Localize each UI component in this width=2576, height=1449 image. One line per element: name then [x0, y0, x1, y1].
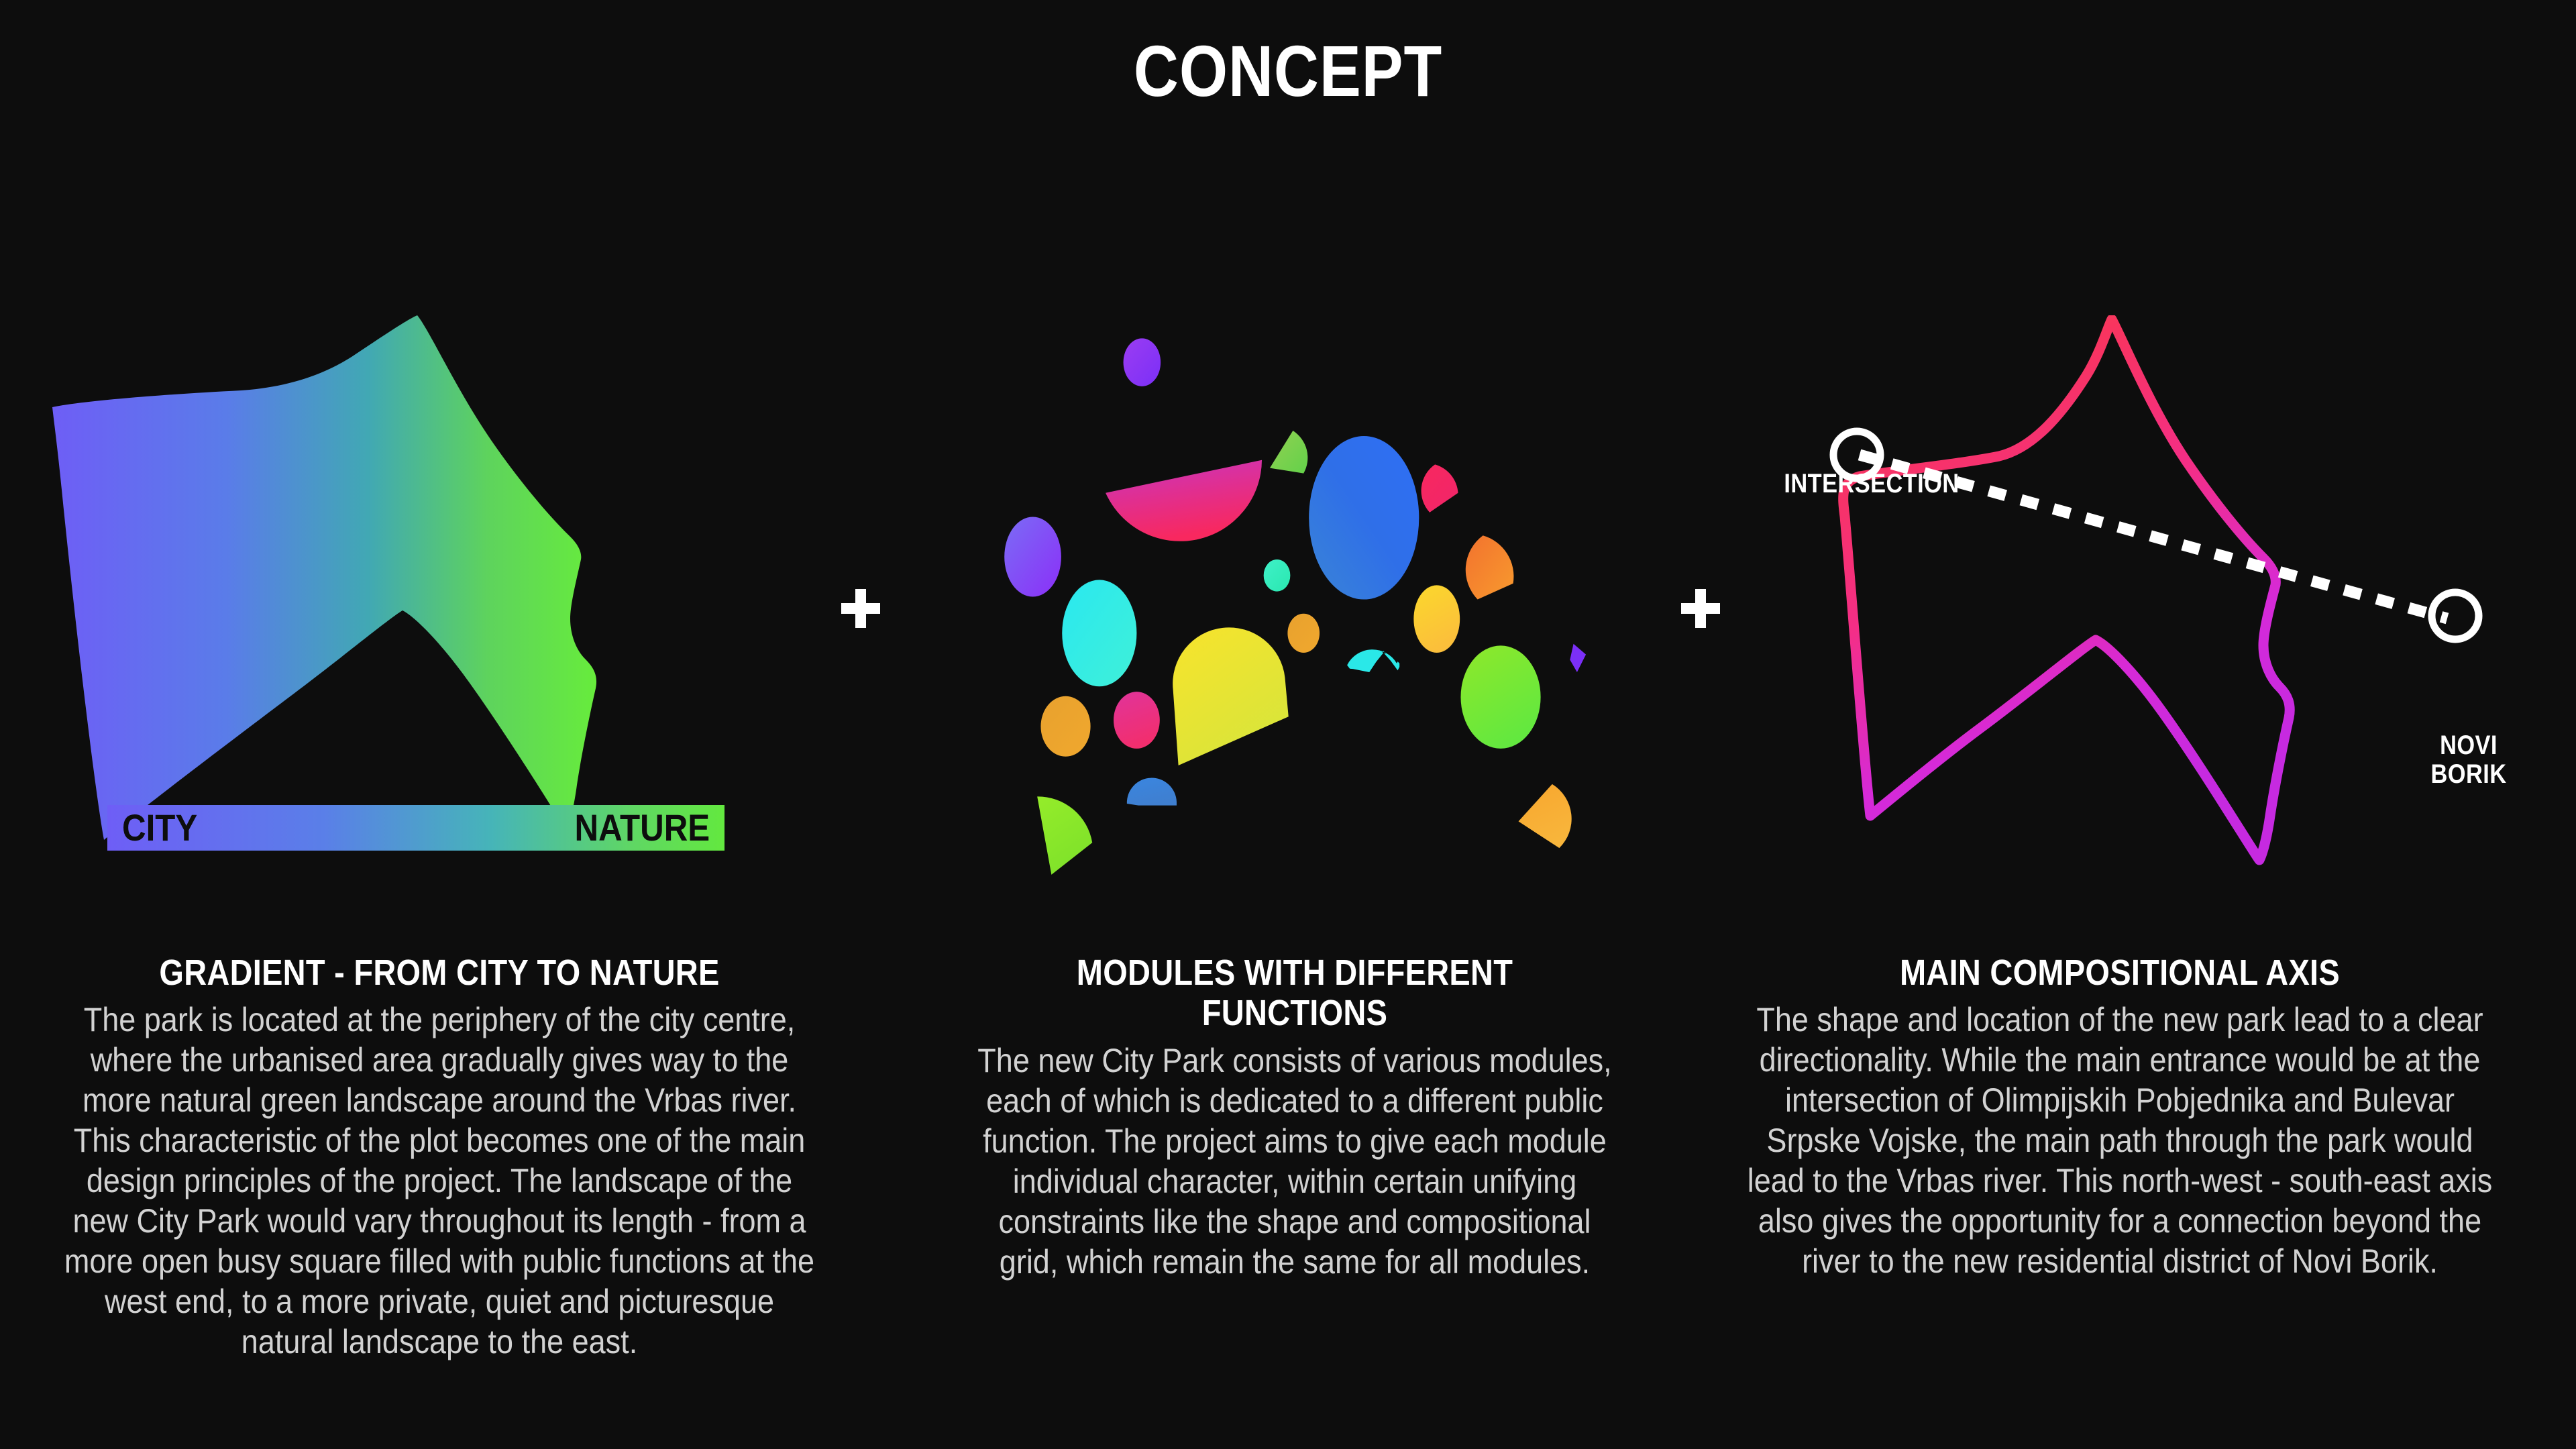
city-nature-gradient-legend: CITY NATURE — [107, 805, 724, 851]
module-magenta-half — [1106, 460, 1262, 541]
panel-axis-graphic — [1758, 315, 2536, 919]
module-cyan-crescent — [1347, 649, 1399, 672]
caption-body-modules: The new City Park consists of various mo… — [975, 1040, 1615, 1282]
caption-title-modules: MODULES WITH DIFFERENT FUNCTIONS — [985, 953, 1604, 1034]
label-novi-borik-line1: NOVI — [2411, 731, 2526, 760]
caption-column-axis: MAIN COMPOSITIONAL AXIS The shape and lo… — [1704, 953, 2536, 1281]
module-orange-quarter — [1466, 535, 1514, 599]
caption-title-gradient: GRADIENT - FROM CITY TO NATURE — [74, 953, 804, 993]
park-outline-stroke — [1843, 319, 2290, 860]
module-purple-sliver — [1570, 644, 1586, 672]
module-yellow-right — [1413, 585, 1460, 653]
plus-separator-1 — [837, 585, 884, 632]
page-title: CONCEPT — [180, 35, 2396, 107]
module-violet-top — [1124, 338, 1161, 386]
module-magenta-small — [1114, 692, 1160, 749]
module-blue-large — [1309, 436, 1419, 600]
panel-modules-graphic — [939, 315, 1650, 919]
label-novi-borik-line2: BORIK — [2411, 760, 2526, 789]
caption-body-gradient: The park is located at the periphery of … — [62, 1000, 817, 1362]
label-intersection: INTERSECTION — [1750, 470, 1992, 498]
plus-separator-2 — [1677, 585, 1724, 632]
legend-label-nature: NATURE — [574, 809, 710, 847]
module-violet-left — [1004, 517, 1061, 596]
axis-diagram — [1758, 315, 2536, 919]
module-cyan-large — [1062, 580, 1136, 686]
concept-board: CONCEPT — [0, 0, 2576, 1449]
module-green-wedge — [1270, 431, 1307, 474]
module-steelblue-half — [1127, 778, 1177, 806]
module-yellow-dome — [1173, 627, 1289, 765]
label-novi-borik: NOVI BORIK — [2411, 731, 2526, 789]
legend-label-city: CITY — [122, 809, 197, 847]
module-teal-small — [1264, 559, 1291, 592]
module-amber-centre — [1287, 614, 1320, 653]
module-orange-lowerleft — [1040, 696, 1090, 757]
novi-borik-marker-icon — [2432, 592, 2479, 639]
module-lime-quarter — [1037, 796, 1092, 874]
caption-column-modules: MODULES WITH DIFFERENT FUNCTIONS The new… — [939, 953, 1650, 1282]
module-orange-lowerright — [1519, 784, 1572, 848]
module-lime-large — [1461, 645, 1541, 749]
park-shape-path — [52, 315, 596, 840]
caption-title-axis: MAIN COMPOSITIONAL AXIS — [1758, 953, 2482, 993]
module-hotpink-quarter — [1421, 464, 1458, 512]
caption-column-gradient: GRADIENT - FROM CITY TO NATURE The park … — [20, 953, 859, 1362]
caption-body-axis: The shape and location of the new park l… — [1746, 1000, 2494, 1281]
modules-composition — [939, 315, 1650, 919]
